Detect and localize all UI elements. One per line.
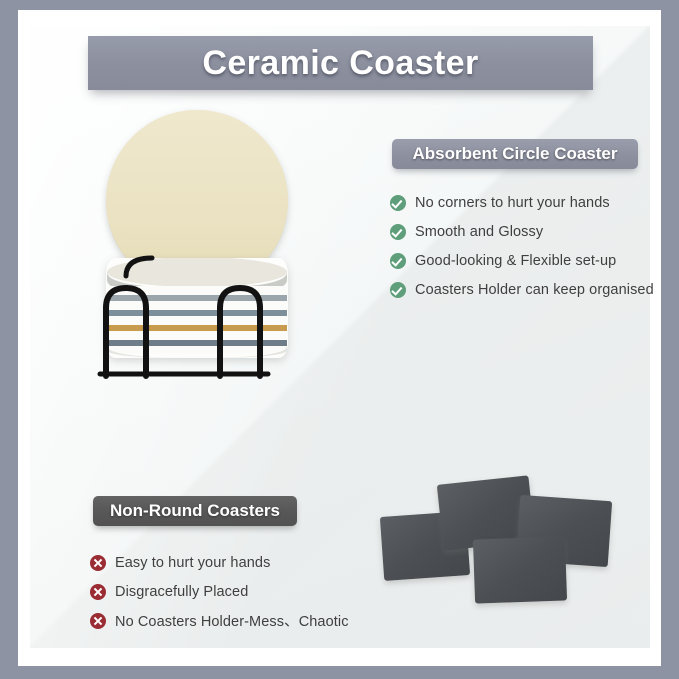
list-item: No Coasters Holder-Mess、Chaotic (90, 606, 360, 635)
slate-coaster (473, 536, 567, 603)
list-item-label: Coasters Holder can keep organised (415, 282, 654, 298)
list-item: Good-looking & Flexible set-up (390, 246, 640, 275)
list-item-label: Disgracefully Placed (115, 584, 248, 600)
pros-list: No corners to hurt your hands Smooth and… (390, 188, 640, 304)
cons-list: Easy to hurt your hands Disgracefully Pl… (90, 548, 360, 635)
cross-circle-icon (90, 584, 106, 600)
header-banner: Ceramic Coaster (88, 36, 593, 90)
slate-coaster-product-image (378, 470, 628, 610)
infographic-canvas: Ceramic Coaster (0, 0, 679, 679)
list-item-label: No corners to hurt your hands (415, 195, 610, 211)
metal-coaster-holder (92, 252, 302, 380)
list-item: Smooth and Glossy (390, 217, 640, 246)
pros-badge: Absorbent Circle Coaster (392, 139, 638, 169)
list-item-label: No Coasters Holder-Mess、Chaotic (115, 610, 349, 631)
cons-badge-label: Non-Round Coasters (110, 501, 280, 521)
list-item: Easy to hurt your hands (90, 548, 360, 577)
list-item-label: Good-looking & Flexible set-up (415, 253, 616, 269)
list-item: Coasters Holder can keep organised (390, 275, 640, 304)
list-item: Disgracefully Placed (90, 577, 360, 606)
list-item-label: Smooth and Glossy (415, 224, 543, 240)
page-title: Ceramic Coaster (202, 44, 478, 83)
check-circle-icon (390, 253, 406, 269)
check-circle-icon (390, 224, 406, 240)
list-item-label: Easy to hurt your hands (115, 555, 270, 571)
round-coaster-product-image (92, 110, 372, 400)
cons-badge: Non-Round Coasters (93, 496, 297, 526)
list-item: No corners to hurt your hands (390, 188, 640, 217)
check-circle-icon (390, 195, 406, 211)
cross-circle-icon (90, 613, 106, 629)
check-circle-icon (390, 282, 406, 298)
pros-badge-label: Absorbent Circle Coaster (413, 144, 618, 164)
cross-circle-icon (90, 555, 106, 571)
